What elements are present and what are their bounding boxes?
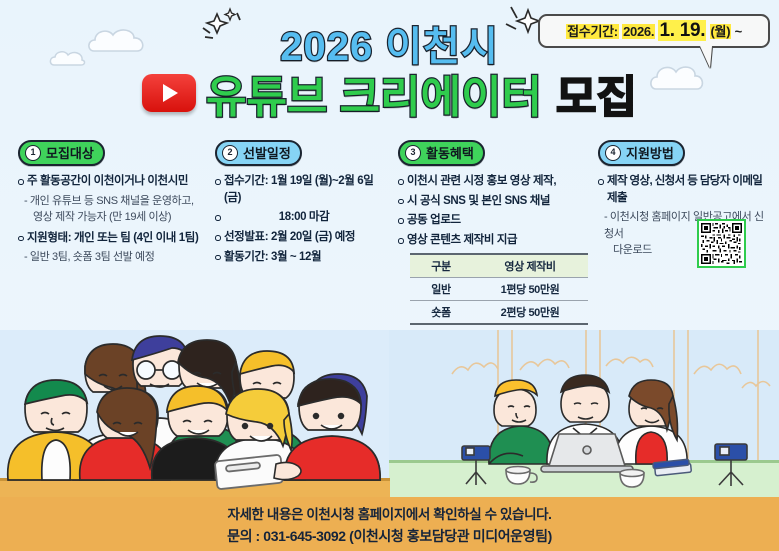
qr-code-icon[interactable]	[697, 219, 746, 268]
bullet-continuation: 공동 업로드	[398, 212, 598, 229]
bubble-weekday: (월)	[710, 24, 732, 39]
section-badge-label: 모집대상	[46, 143, 94, 162]
sub-item: - 개인 유튜브 등 SNS 채널을 운영하고, 영상 제작 가능자 (만 19…	[18, 193, 214, 226]
table-cell: 2편당 50만원	[472, 300, 588, 324]
table-header-cell: 구분	[410, 254, 472, 278]
sub-line-1: - 개인 유튜브 등 SNS 채널을 운영하고,	[24, 195, 194, 207]
bullet-item: 주 활동공간이 이천이거나 이천시민	[18, 173, 214, 190]
table-cell: 일반	[410, 277, 472, 300]
bubble-suffix: ~	[735, 24, 742, 39]
table-header-cell: 영상 제작비	[472, 254, 588, 278]
section-number: 3	[405, 145, 421, 161]
section-badge-label: 선발일정	[243, 143, 291, 162]
table-cell: 숏폼	[410, 300, 472, 324]
bullet-item: 이천시 관련 시정 홍보 영상 제작,	[398, 173, 598, 190]
bubble-year: 2026.	[622, 24, 655, 39]
section-number: 4	[605, 145, 621, 161]
footer-line-1: 자세한 내용은 이천시청 홈페이지에서 확인하실 수 있습니다.	[228, 503, 552, 523]
application-period-bubble: 접수기간: 2026. 1. 19. (월) ~	[538, 14, 770, 48]
footer-contact: 자세한 내용은 이천시청 홈페이지에서 확인하실 수 있습니다. 문의 : 03…	[0, 497, 779, 551]
illustration-area	[0, 330, 779, 497]
bullet-item: 영상 콘텐츠 제작비 지급	[398, 232, 598, 249]
info-columns: 1 모집대상 주 활동공간이 이천이거나 이천시민 - 개인 유튜브 등 SNS…	[0, 140, 779, 330]
sub-line-2: 영상 제작 가능자 (만 19세 이상)	[24, 209, 214, 226]
deadline-text: 18:00 마감	[215, 209, 393, 226]
bubble-tail	[700, 46, 712, 68]
table-header-row: 구분 영상 제작비	[410, 254, 588, 278]
section-badge-3: 3 활동혜택	[398, 140, 485, 166]
bubble-month-day: 1. 19.	[658, 20, 706, 41]
illustration-svg	[0, 330, 779, 497]
section-badge-1: 1 모집대상	[18, 140, 105, 166]
section-number: 1	[25, 145, 41, 161]
title-green-text: 유튜브 크리에이터	[206, 61, 542, 125]
section-badge-label: 지원방법	[626, 143, 674, 162]
sub-item: - 일반 3팀, 숏폼 3팀 선발 예정	[18, 249, 214, 266]
table-row: 일반 1편당 50만원	[410, 277, 588, 300]
table-cell: 1편당 50만원	[472, 277, 588, 300]
section-badge-2: 2 선발일정	[215, 140, 302, 166]
youtube-play-icon	[142, 74, 196, 112]
table-row: 숏폼 2편당 50만원	[410, 300, 588, 324]
bubble-text: 접수기간: 2026. 1. 19. (월) ~	[566, 20, 742, 42]
title-black-text: 모집	[556, 61, 637, 125]
bullet-item: 접수기간: 1월 19일 (월)~2월 6일 (금)	[215, 173, 393, 206]
section-badge-label: 활동혜택	[426, 143, 474, 162]
bullet-item: 활동기간: 3월 ~ 12월	[215, 249, 393, 266]
title-line-2: 유튜브 크리에이터 모집	[0, 61, 779, 125]
section-selection-schedule: 2 선발일정 접수기간: 1월 19일 (월)~2월 6일 (금) 18:00 …	[215, 140, 393, 268]
section-activity-benefits: 3 활동혜택 이천시 관련 시정 홍보 영상 제작, 시 공식 SNS 및 본인…	[398, 140, 598, 347]
bubble-label: 접수기간:	[566, 24, 619, 39]
bullet-item: 제작 영상, 신청서 등 담당자 이메일 제출	[598, 173, 770, 206]
section-number: 2	[222, 145, 238, 161]
bullet-item: 지원형태: 개인 또는 팀 (4인 이내 1팀)	[18, 230, 214, 247]
production-fee-table: 구분 영상 제작비 일반 1편당 50만원 숏폼 2편당 50만원	[410, 253, 588, 325]
footer-line-2: 문의 : 031-645-3092 (이천시청 홍보담당관 미디어운영팀)	[227, 526, 552, 546]
section-badge-4: 4 지원방법	[598, 140, 685, 166]
bullet-continuation: 시 공식 SNS 및 본인 SNS 채널	[398, 193, 598, 210]
bullet-item: 선정발표: 2월 20일 (금) 예정	[215, 229, 393, 246]
poster-root: 2026 이천시 유튜브 크리에이터 모집 접수기간: 2026. 1. 19.…	[0, 0, 779, 551]
section-recruitment-target: 1 모집대상 주 활동공간이 이천이거나 이천시민 - 개인 유튜브 등 SNS…	[18, 140, 214, 270]
